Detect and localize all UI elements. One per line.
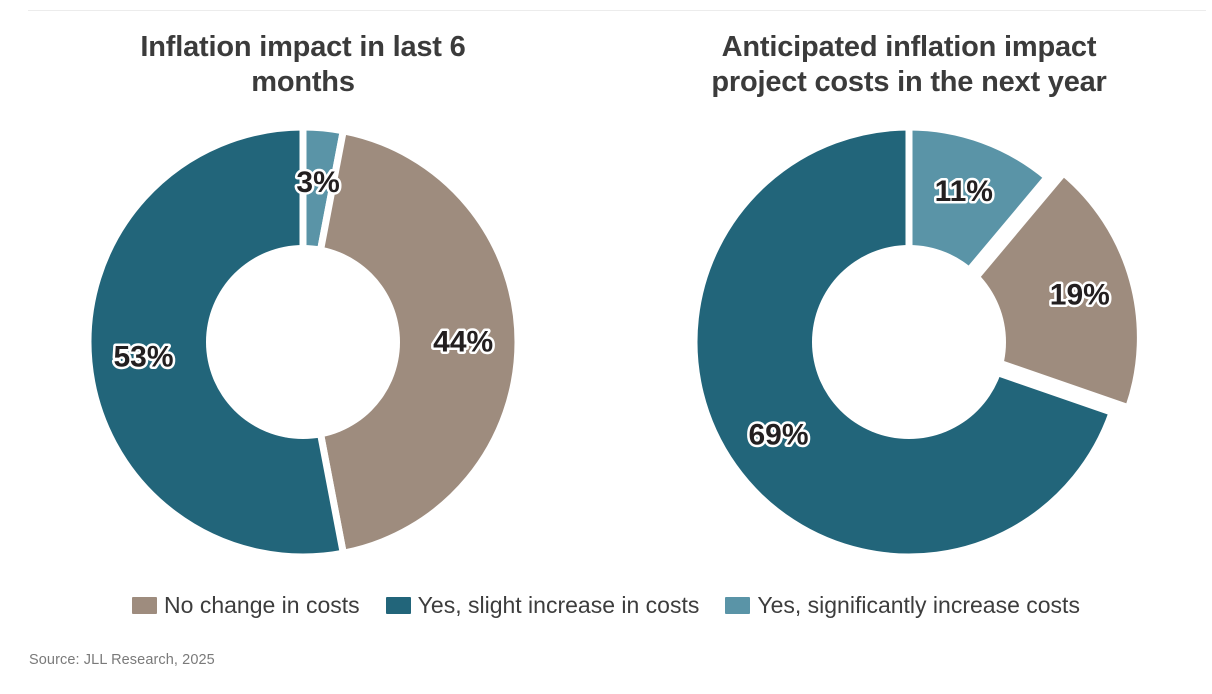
top-divider bbox=[28, 10, 1206, 11]
legend-swatch-significant-increase bbox=[725, 597, 750, 614]
donut-chart-panel-2: Anticipated inflation impact project cos… bbox=[606, 18, 1212, 584]
source-note: Source: JLL Research, 2025 bbox=[29, 652, 215, 668]
legend-swatch-slight-increase bbox=[386, 597, 411, 614]
donut-chart-panel-1: Inflation impact in last 6 months 3% 44%… bbox=[0, 18, 606, 584]
slice-label-significant-increase-2: 11% bbox=[935, 175, 993, 208]
legend-item-slight-increase[interactable]: Yes, slight increase in costs bbox=[386, 594, 700, 617]
slice-label-no-change-2: 19% bbox=[1050, 278, 1110, 311]
donut-chart-2: 11% 19% 69% bbox=[674, 107, 1144, 577]
donut-hole-2 bbox=[812, 245, 1006, 439]
slice-label-significant-increase-1: 3% bbox=[296, 166, 339, 199]
chart-title-1: Inflation impact in last 6 months bbox=[88, 30, 518, 101]
charts-row: Inflation impact in last 6 months 3% 44%… bbox=[0, 18, 1212, 584]
legend-item-significant-increase[interactable]: Yes, significantly increase costs bbox=[725, 594, 1080, 617]
legend-label-no-change: No change in costs bbox=[164, 594, 360, 617]
chart-legend: No change in costs Yes, slight increase … bbox=[0, 594, 1212, 617]
slice-label-slight-increase-2: 69% bbox=[748, 418, 808, 451]
slice-label-no-change-1: 44% bbox=[433, 325, 493, 358]
legend-swatch-no-change bbox=[132, 597, 157, 614]
chart-page: Inflation impact in last 6 months 3% 44%… bbox=[0, 0, 1212, 694]
legend-label-slight-increase: Yes, slight increase in costs bbox=[418, 594, 700, 617]
donut-hole-1 bbox=[206, 245, 400, 439]
slice-label-slight-increase-1: 53% bbox=[113, 340, 173, 373]
donut-svg-1: 3% 44% 53% bbox=[68, 107, 538, 577]
legend-item-no-change[interactable]: No change in costs bbox=[132, 594, 360, 617]
chart-title-2: Anticipated inflation impact project cos… bbox=[694, 30, 1124, 101]
donut-chart-1: 3% 44% 53% bbox=[68, 107, 538, 577]
donut-svg-2: 11% 19% 69% bbox=[674, 107, 1144, 577]
legend-label-significant-increase: Yes, significantly increase costs bbox=[757, 594, 1080, 617]
